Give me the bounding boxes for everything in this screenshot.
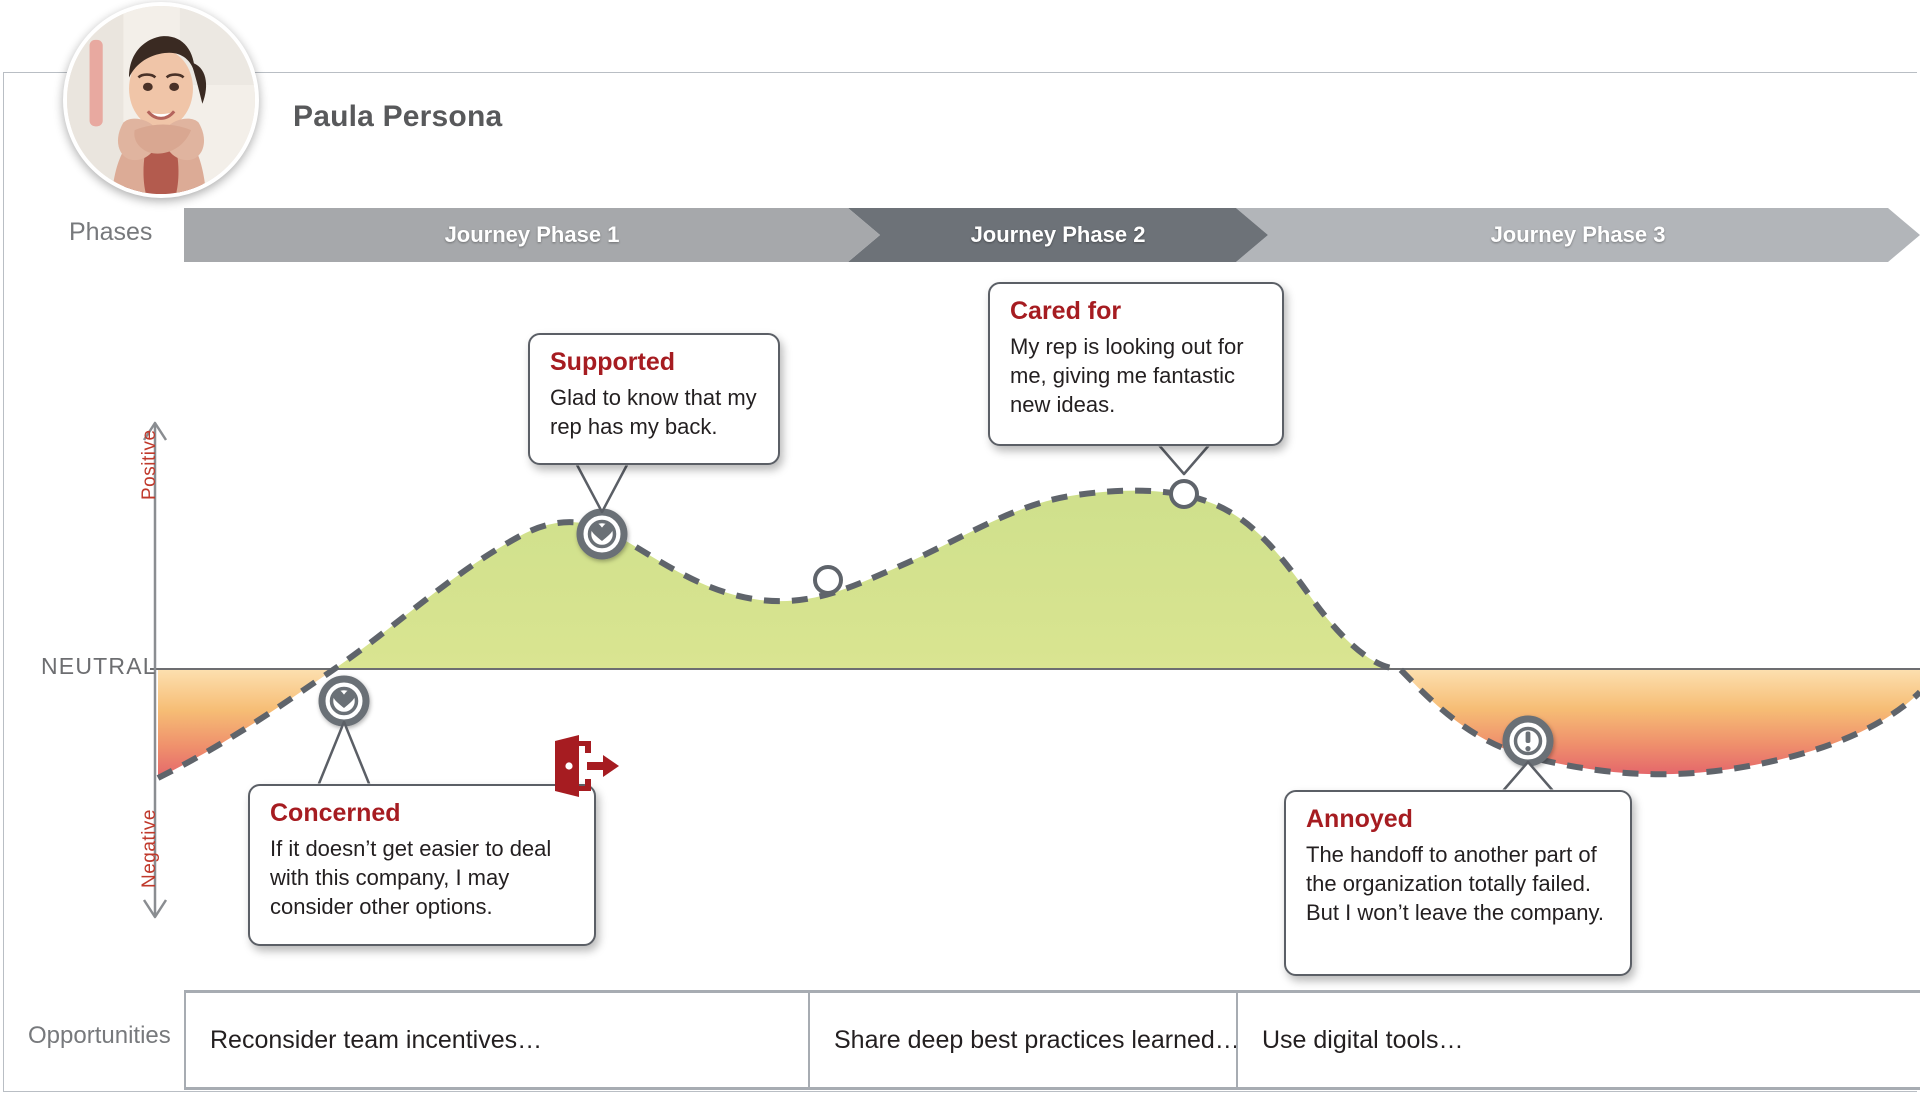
callout-title: Annoyed	[1306, 806, 1612, 834]
avatar	[63, 2, 259, 198]
callout-body: If it doesn’t get easier to deal with th…	[270, 834, 576, 922]
callout-body: Glad to know that my rep has my back.	[550, 383, 760, 442]
phase-label: Journey Phase 2	[971, 222, 1146, 248]
opportunity-cell[interactable]: Reconsider team incentives…	[184, 993, 808, 1087]
phase-label: Journey Phase 1	[445, 222, 620, 248]
phase-label: Journey Phase 3	[1491, 222, 1666, 248]
opportunities-row: Reconsider team incentives… Share deep b…	[184, 990, 1920, 1090]
persona-photo-icon	[67, 6, 255, 194]
opportunities-row-label: Opportunities	[28, 1022, 171, 1050]
opportunity-label: Use digital tools…	[1262, 1026, 1463, 1055]
opportunity-cell[interactable]: Use digital tools…	[1236, 993, 1920, 1087]
callout-title: Cared for	[1010, 298, 1264, 326]
callout-annoyed[interactable]: Annoyed The handoff to another part of t…	[1284, 790, 1632, 976]
callout-title: Concerned	[270, 800, 576, 828]
opportunity-cell[interactable]: Share deep best practices learned…	[808, 993, 1236, 1087]
phases-row-label: Phases	[69, 218, 152, 247]
phase-chevron-2[interactable]: Journey Phase 2	[848, 208, 1268, 262]
neutral-axis-label: NEUTRAL	[41, 653, 157, 680]
callout-cared-for[interactable]: Cared for My rep is looking out for me, …	[988, 282, 1284, 446]
callout-title: Supported	[550, 349, 760, 377]
phase-chevron-3[interactable]: Journey Phase 3	[1236, 208, 1920, 262]
callout-body: The handoff to another part of the organ…	[1306, 840, 1612, 928]
negative-axis-label: Negative	[139, 809, 161, 888]
callout-body: My rep is looking out for me, giving me …	[1010, 332, 1264, 420]
positive-axis-label: Positive	[139, 429, 161, 500]
opportunity-label: Share deep best practices learned…	[834, 1026, 1236, 1055]
phase-chevron-1[interactable]: Journey Phase 1	[184, 208, 880, 262]
exit-door-icon	[551, 733, 621, 799]
callout-supported[interactable]: Supported Glad to know that my rep has m…	[528, 333, 780, 465]
phases-bar: Journey Phase 1 Journey Phase 2 Journey …	[184, 208, 1920, 262]
opportunity-label: Reconsider team incentives…	[210, 1026, 542, 1055]
persona-name: Paula Persona	[293, 100, 502, 134]
journey-map-canvas: Paula Persona Phases Opportunities NEUTR…	[0, 0, 1920, 1096]
callout-concerned[interactable]: Concerned If it doesn’t get easier to de…	[248, 784, 596, 946]
